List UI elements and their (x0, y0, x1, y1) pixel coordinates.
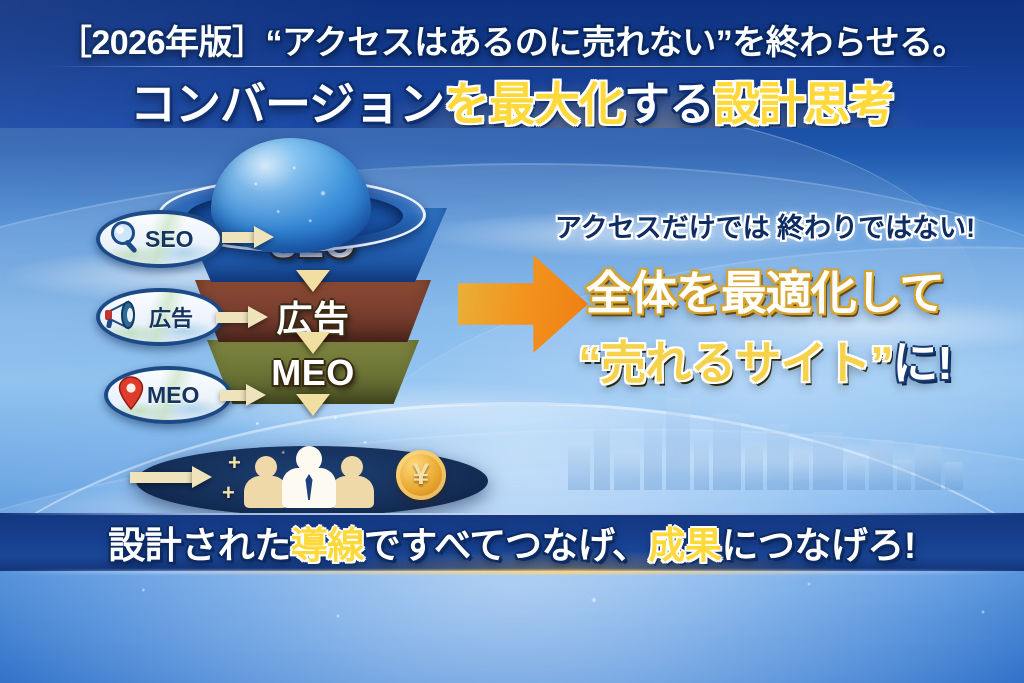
people-group-icon (244, 446, 394, 508)
sparkle-texture (0, 480, 1024, 680)
badge-ad-label: 広告 (149, 301, 193, 333)
header-title: コンバージョンを最大化する設計思考 (0, 68, 1024, 128)
connector-arrow-shaft-meo (220, 390, 248, 401)
right-copy-line-3-white: に! (892, 337, 951, 389)
funnel-down-arrow-3-icon (296, 394, 330, 416)
badge-seo-label: SEO (145, 226, 194, 253)
connector-arrow-head-ad-icon (248, 306, 268, 328)
inflow-arrow-head-icon (192, 466, 212, 488)
plus-mark-2: + (222, 480, 235, 506)
header-subtitle: ［2026年版］“アクセスはあるのに売れない”を終わらせる。 (0, 15, 1024, 64)
connector-arrow-shaft-ad (216, 312, 250, 323)
person-right-head (341, 456, 363, 478)
badge-ad[interactable]: 広告 (96, 288, 224, 346)
header-banner: ［2026年版］“アクセスはあるのに売れない”を終わらせる。 コンバージョンを最… (0, 0, 1024, 128)
right-copy-block: アクセスだけでは 終わりではない! 全体を最適化して “売れるサイト”に! (530, 206, 1000, 393)
plus-mark-1: + (228, 450, 241, 476)
connector-arrow-head-seo-icon (254, 226, 274, 248)
person-right-icon (330, 456, 374, 508)
bottom-text-seg-1: 設計 (108, 525, 181, 566)
person-center-icon (282, 446, 336, 508)
funnel-down-arrow-1-icon (296, 270, 330, 292)
bottom-banner-text: 設計された導線ですべてつなげ、成果につなげろ! (108, 515, 915, 569)
badge-meo-label: MEO (147, 382, 199, 409)
inflow-arrow-shaft (130, 472, 192, 483)
person-left-head (255, 456, 277, 478)
map-pin-icon (117, 375, 145, 416)
right-copy-line-2-text: 全体を最適化して (586, 267, 945, 319)
poster-canvas: ［2026年版］“アクセスはあるのに売れない”を終わらせる。 コンバージョンを最… (0, 0, 1024, 683)
megaphone-icon (104, 299, 146, 336)
funnel-stage-meo-label: MEO (207, 352, 419, 394)
magnifier-icon (108, 219, 144, 260)
header-divider (48, 66, 976, 67)
right-copy-line-2: 全体を最適化して (530, 257, 1000, 323)
bottom-text-seg-4: ですべてつなげ、 (364, 525, 649, 566)
right-copy-line-3-gold: “売れるサイト” (578, 337, 892, 389)
header-title-part-4: 設計思考 (714, 78, 894, 128)
funnel-down-arrow-2-icon (296, 332, 330, 354)
right-copy-line-3: “売れるサイト”に! (530, 327, 1000, 393)
yen-coin-icon: ¥ (396, 450, 446, 500)
bottom-banner: 設計された導線ですべてつなげ、成果につなげろ! (0, 513, 1024, 571)
badge-seo[interactable]: SEO (96, 210, 224, 268)
bottom-text-seg-5: 成果 (648, 525, 721, 566)
connector-arrow-head-meo-icon (246, 384, 266, 406)
person-right-body (330, 476, 374, 508)
right-copy-line-1: アクセスだけでは 終わりではない! (530, 206, 1000, 245)
header-title-part-3: する (624, 78, 714, 128)
badge-meo[interactable]: MEO (104, 366, 232, 424)
header-title-part-1: コンバージョン (130, 78, 444, 128)
bottom-text-seg-2: された (181, 525, 291, 566)
bottom-text-seg-3: 導線 (291, 525, 364, 566)
connector-arrow-shaft-seo (222, 232, 256, 243)
bottom-text-seg-6: につなげろ! (721, 525, 915, 566)
header-title-part-2: を最大化 (444, 78, 624, 128)
